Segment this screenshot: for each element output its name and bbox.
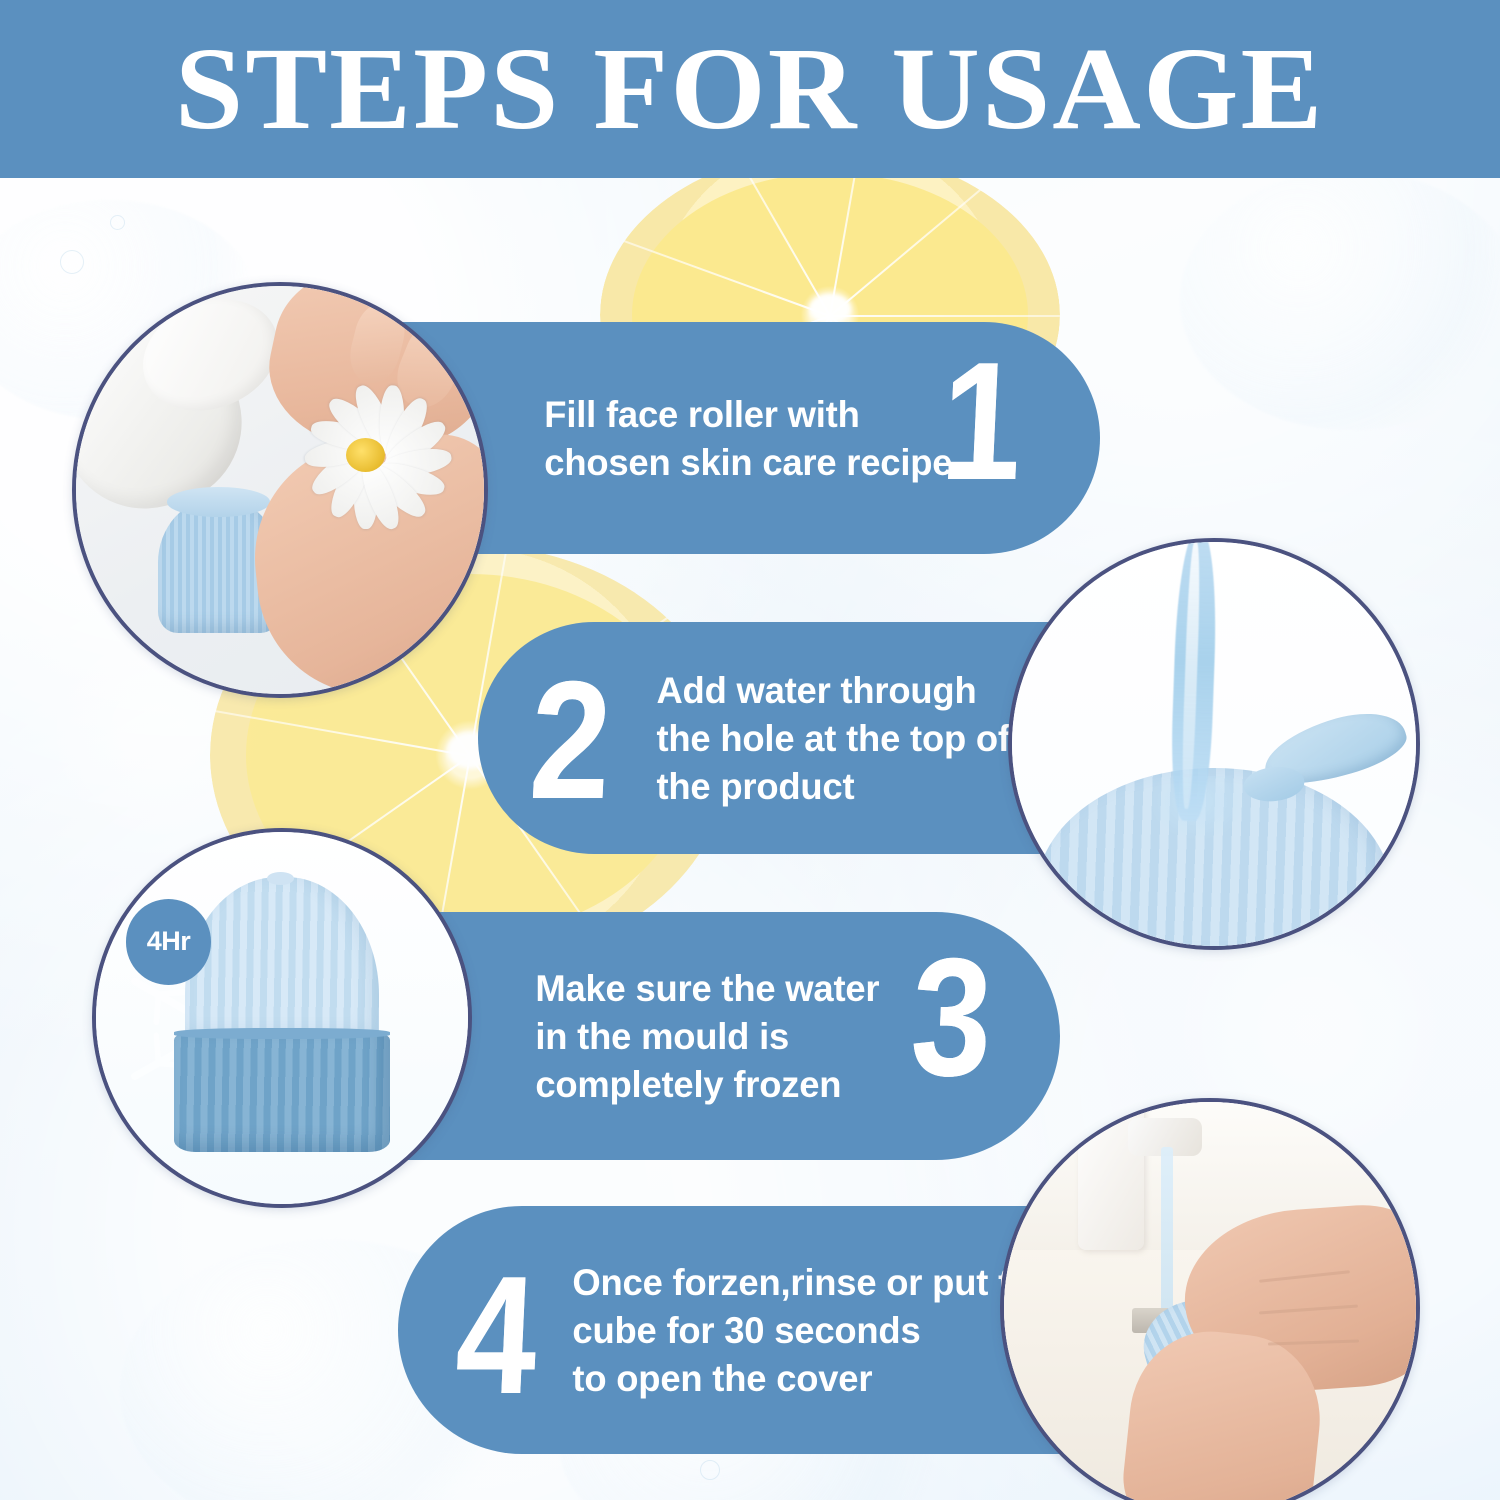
step-1-photo (72, 282, 488, 698)
infographic-page: STEPS FOR USAGE Fill face roller with ch… (0, 0, 1500, 1500)
step-2-text: Add water through the hole at the top of… (657, 666, 1010, 810)
step-4-text: Once forzen,rinse or put the cube for 30… (573, 1258, 1053, 1402)
step-4-photo (1000, 1098, 1420, 1500)
step-pill-1: Fill face roller with chosen skin care r… (398, 322, 1100, 554)
step-3-photo: 4Hr (92, 828, 472, 1208)
ice-blob (1180, 170, 1500, 430)
freeze-time-label: 4Hr (147, 926, 191, 957)
step-1-text: Fill face roller with chosen skin care r… (544, 390, 952, 486)
step-2-number: 2 (527, 669, 614, 812)
bubble (700, 1460, 720, 1480)
freeze-time-badge: 4Hr (126, 899, 212, 985)
step-1-number: 1 (938, 350, 1025, 493)
bubble (60, 250, 84, 274)
step-pill-3: Make sure the water in the mould is comp… (398, 912, 1060, 1160)
bubble (110, 215, 125, 230)
step-pill-4: 4 Once forzen,rinse or put the cube for … (398, 1206, 1090, 1454)
step-pill-2: 2 Add water through the hole at the top … (478, 622, 1100, 854)
step-4-number: 4 (453, 1264, 540, 1407)
step-3-text: Make sure the water in the mould is comp… (535, 964, 879, 1108)
step-3-number: 3 (908, 946, 995, 1089)
page-title: STEPS FOR USAGE (175, 30, 1325, 148)
step-2-photo (1008, 538, 1420, 950)
header-banner: STEPS FOR USAGE (0, 0, 1500, 178)
mould-base (174, 1033, 390, 1152)
daisy-flower-icon (272, 376, 460, 539)
